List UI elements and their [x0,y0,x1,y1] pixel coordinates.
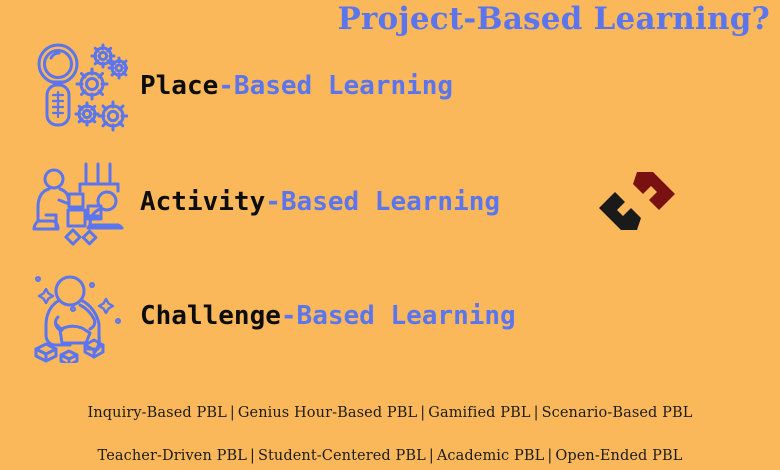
children-building-blocks-icon [18,154,138,250]
row-label-activity-dark: Activity [140,187,265,217]
footer-item: Open-Ended PBL [555,448,682,464]
footer-separator: | [417,405,428,421]
row-label-activity-blue: -Based Learning [265,187,500,217]
footer-item: Teacher-Driven PBL [98,448,247,464]
logo-shape-bottom [599,192,641,230]
row-label-challenge-blue: -Based Learning [281,301,516,331]
interlocking-diamond-logo [597,170,677,232]
footer-item: Scenario-Based PBL [542,405,693,421]
list-item-place: Place-Based Learning [0,36,560,136]
row-label-place: Place-Based Learning [140,73,453,99]
logo-shape-top [633,172,675,210]
footer-item: Gamified PBL [428,405,530,421]
footer-separator: | [426,448,437,464]
list-item-activity: Activity-Based Learning [0,152,560,252]
footer-separator: | [531,405,542,421]
list-item-challenge: Challenge-Based Learning [0,266,560,366]
footer-item: Inquiry-Based PBL [88,405,227,421]
magnifier-gears-icon [18,38,138,134]
footer-separator: | [227,405,238,421]
row-label-place-blue: -Based Learning [218,71,453,101]
child-cubes-sparkles-icon [18,268,138,364]
footer-line-1: Inquiry-Based PBL|Genius Hour-Based PBL|… [0,405,780,421]
row-label-place-dark: Place [140,71,218,101]
row-label-activity: Activity-Based Learning [140,189,500,215]
slide-canvas: Project-Based Learning? [0,0,780,470]
row-label-challenge: Challenge-Based Learning [140,303,516,329]
footer-separator: | [247,448,258,464]
page-title: Project-Based Learning? [338,0,771,40]
footer-item: Genius Hour-Based PBL [238,405,417,421]
footer-item: Academic PBL [437,448,544,464]
row-label-challenge-dark: Challenge [140,301,281,331]
footer-item: Student-Centered PBL [258,448,426,464]
footer-separator: | [544,448,555,464]
footer-line-2: Teacher-Driven PBL|Student-Centered PBL|… [0,448,780,464]
